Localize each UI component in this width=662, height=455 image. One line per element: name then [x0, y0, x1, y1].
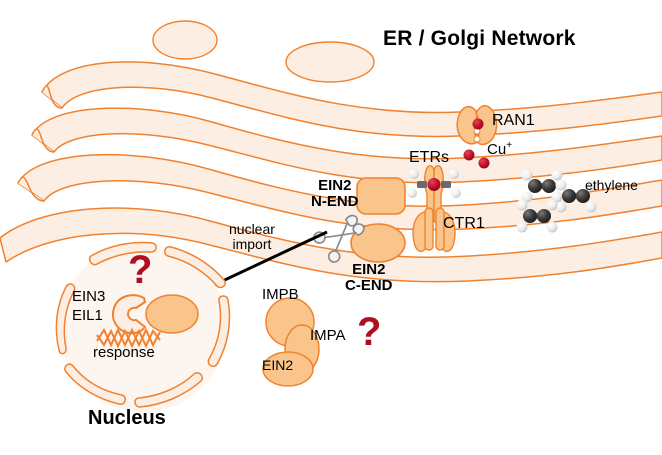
- er-vesicle: [286, 42, 374, 82]
- diagram-canvas: [0, 0, 662, 455]
- nuclear-import-line2: import: [229, 237, 275, 252]
- copper-symbol: Cu: [487, 141, 506, 158]
- copper-charge: +: [506, 140, 512, 151]
- ein2-nuclear-oval: [146, 295, 198, 333]
- copper-ion: [479, 158, 490, 169]
- response-label: response: [93, 345, 155, 361]
- ran1-transporter: [457, 106, 496, 145]
- ein2-c-end-line2: C-END: [345, 278, 393, 294]
- ctr1-label: CTR1: [443, 216, 485, 233]
- ethylene-label: ethylene: [585, 178, 638, 193]
- ein2-n-end-protein: [357, 178, 405, 214]
- impa-label: IMPA: [310, 328, 346, 344]
- etrs-label: ETRs: [409, 150, 449, 167]
- ein2-c-end-label: EIN2 C-END: [345, 262, 393, 294]
- eil1-label: EIL1: [72, 307, 105, 326]
- ein2-n-end-line2: N-END: [311, 194, 359, 210]
- ein2-cargo-label: EIN2: [262, 358, 293, 373]
- question-mark-nucleus-icon: ?: [128, 250, 152, 290]
- ein2-n-end-line1: EIN2: [311, 178, 359, 194]
- nucleus-label: Nucleus: [88, 408, 166, 429]
- question-mark-import-icon: ?: [357, 312, 381, 352]
- ein3-label: EIN3: [72, 288, 105, 307]
- ein3-eil1-label: EIN3 EIL1: [72, 288, 105, 326]
- copper-ion: [473, 119, 484, 130]
- copper-ion: [464, 150, 475, 161]
- ein2-n-end-label: EIN2 N-END: [311, 178, 359, 210]
- copper-ion: [428, 178, 441, 191]
- page-title: ER / Golgi Network: [383, 28, 576, 50]
- impb-label: IMPB: [262, 287, 299, 303]
- er-vesicle: [153, 21, 217, 59]
- ein2-c-end-line1: EIN2: [345, 262, 393, 278]
- ran1-label: RAN1: [492, 113, 535, 130]
- nuclear-import-line1: nuclear: [229, 222, 275, 237]
- er-golgi-network: [0, 21, 662, 282]
- nuclear-import-label: nuclear import: [229, 222, 275, 251]
- copper-ion-label: Cu+: [487, 141, 512, 158]
- ethylene-signaling-diagram: ER / Golgi Network RAN1 Cu+ ETRs CTR1 et…: [0, 0, 662, 455]
